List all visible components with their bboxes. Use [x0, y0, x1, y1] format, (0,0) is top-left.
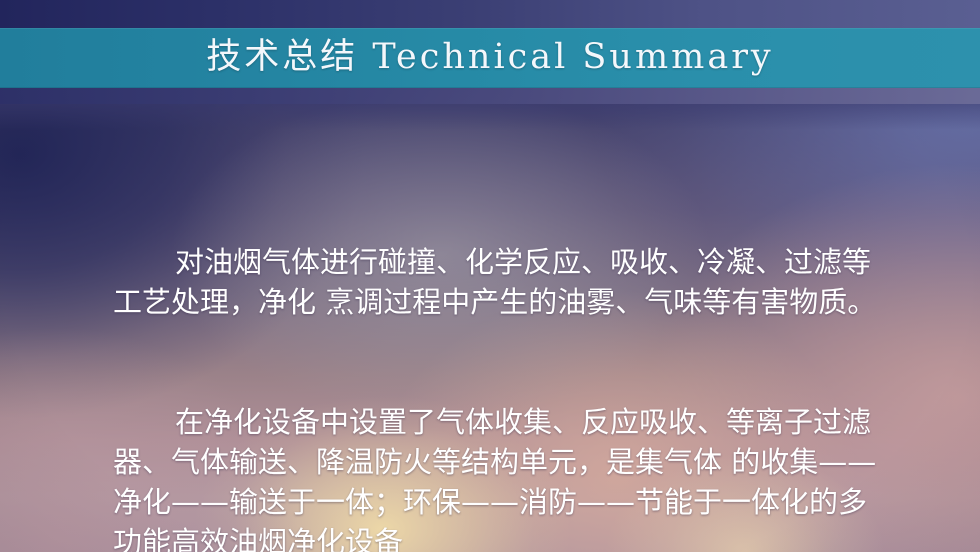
header-strip-top — [0, 0, 980, 28]
presentation-slide: 技术总结 Technical Summary 对油烟气体进行碰撞、化学反应、吸收… — [0, 0, 980, 552]
slide-body: 对油烟气体进行碰撞、化学反应、吸收、冷凝、过滤等工艺处理，净化 烹调过程中产生的… — [113, 162, 893, 552]
body-paragraph-1: 对油烟气体进行碰撞、化学反应、吸收、冷凝、过滤等工艺处理，净化 烹调过程中产生的… — [113, 242, 893, 322]
body-paragraph-2: 在净化设备中设置了气体收集、反应吸收、等离子过滤器、气体输送、降温防火等结构单元… — [113, 402, 893, 552]
header-strip-bottom — [0, 88, 980, 104]
header-fade — [0, 104, 980, 130]
slide-title: 技术总结 Technical Summary — [206, 40, 773, 75]
header-banner: 技术总结 Technical Summary — [0, 28, 980, 88]
